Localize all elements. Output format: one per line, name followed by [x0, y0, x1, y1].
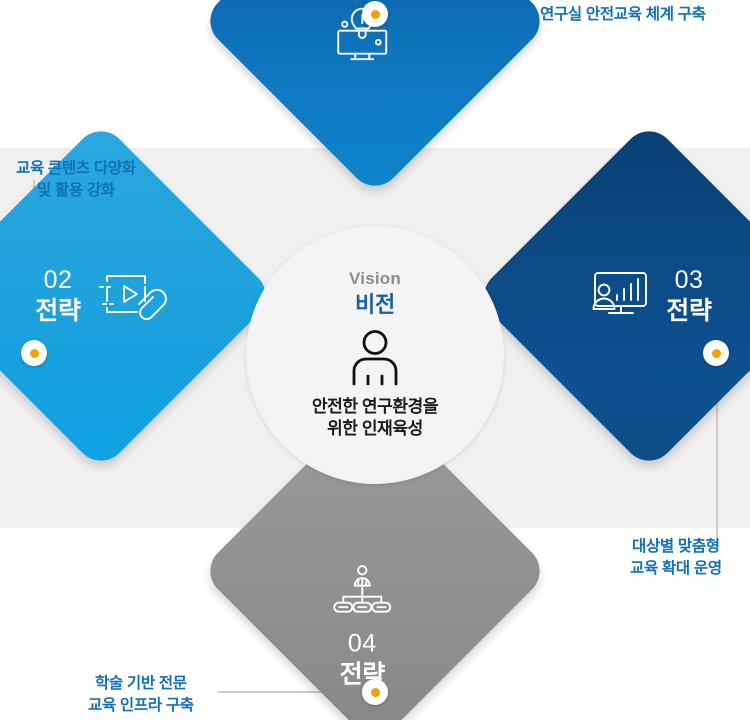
strategy-diagram: 01 전략 02 — [0, 0, 750, 720]
strategy-03-label-line-2: 교육 확대 운영 — [630, 558, 722, 580]
strategy-01-label: 연구실 안전교육 체계 구축 — [540, 4, 706, 26]
strategy-04-label-line-1: 학술 기반 전문 — [88, 673, 194, 695]
strategy-02-label: 교육 콘텐츠 다양화 및 활용 강화 — [16, 158, 136, 203]
video-paperclip-icon — [97, 267, 167, 325]
strategy-02-word: 전략 — [35, 296, 80, 327]
strategy-04-label-line-2: 교육 인프라 구축 — [88, 695, 194, 717]
person-icon — [349, 329, 401, 392]
strategy-02-label-line-1: 교육 콘텐츠 다양화 — [16, 158, 136, 180]
vision-circle: Vision 비전 안전한 연구환경을 위한 인재육성 — [246, 226, 504, 484]
strategy-01-label-line-1: 연구실 안전교육 체계 구축 — [540, 4, 706, 26]
person-barchart-icon — [586, 269, 652, 323]
strategy-03-label: 대상별 맞춤형 교육 확대 운영 — [630, 536, 722, 581]
connector-dot-right[interactable] — [703, 340, 729, 366]
strategy-03-label-line-1: 대상별 맞춤형 — [630, 536, 722, 558]
vision-description: 안전한 연구환경을 위한 인재육성 — [312, 396, 438, 442]
strategy-03-number: 03 — [675, 266, 704, 296]
strategy-02-label-line-2: 및 활용 강화 — [16, 180, 136, 202]
strategy-03-word: 전략 — [666, 296, 711, 327]
org-hierarchy-icon — [331, 564, 393, 616]
vision-description-line-1: 안전한 연구환경을 — [312, 396, 438, 419]
vision-korean-title: 비전 — [355, 291, 395, 319]
vision-english-title: Vision — [349, 269, 401, 289]
strategy-04-label: 학술 기반 전문 교육 인프라 구축 — [88, 673, 194, 718]
strategy-04-number: 04 — [348, 630, 377, 660]
vision-description-line-2: 위한 인재육성 — [312, 418, 438, 441]
connector-dot-left[interactable] — [21, 340, 47, 366]
strategy-02-number: 02 — [44, 266, 73, 296]
connector-dot-bottom[interactable] — [362, 679, 388, 705]
connector-dot-top[interactable] — [362, 1, 388, 27]
